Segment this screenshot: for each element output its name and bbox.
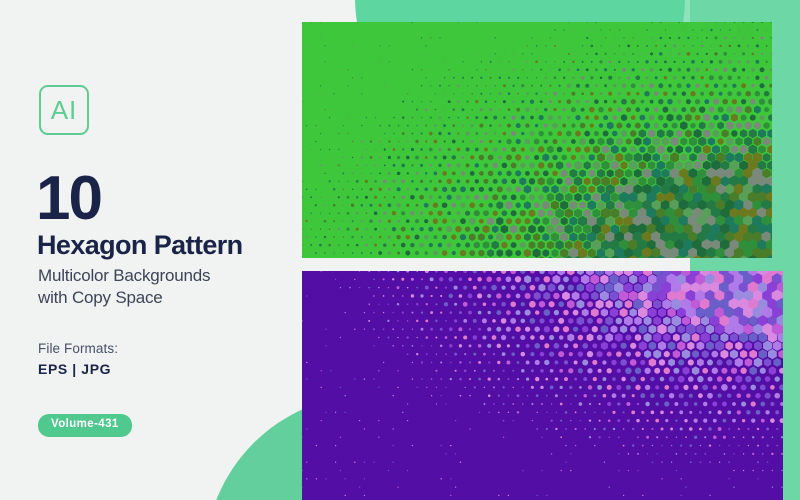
file-formats-value: EPS | JPG	[38, 361, 111, 377]
ai-badge-label: AI	[51, 97, 78, 123]
adobe-illustrator-badge-icon: AI	[39, 85, 89, 135]
volume-badge: Volume-431	[38, 414, 132, 437]
subtitle-line-2: with Copy Space	[38, 287, 210, 309]
poster-canvas: AI 10 Hexagon Pattern Multicolor Backgro…	[0, 0, 800, 500]
info-column: AI 10 Hexagon Pattern Multicolor Backgro…	[0, 0, 300, 500]
page-subtitle: Multicolor Backgrounds with Copy Space	[38, 265, 210, 310]
purple-hexagon-preview[interactable]	[302, 271, 783, 500]
purple-hexagon-pattern	[302, 271, 783, 500]
page-title: Hexagon Pattern	[37, 232, 243, 259]
subtitle-line-1: Multicolor Backgrounds	[38, 265, 210, 287]
file-formats-label: File Formats:	[38, 341, 118, 356]
item-count: 10	[36, 168, 101, 230]
green-hexagon-preview[interactable]	[302, 22, 772, 258]
green-hexagon-pattern	[302, 22, 772, 258]
